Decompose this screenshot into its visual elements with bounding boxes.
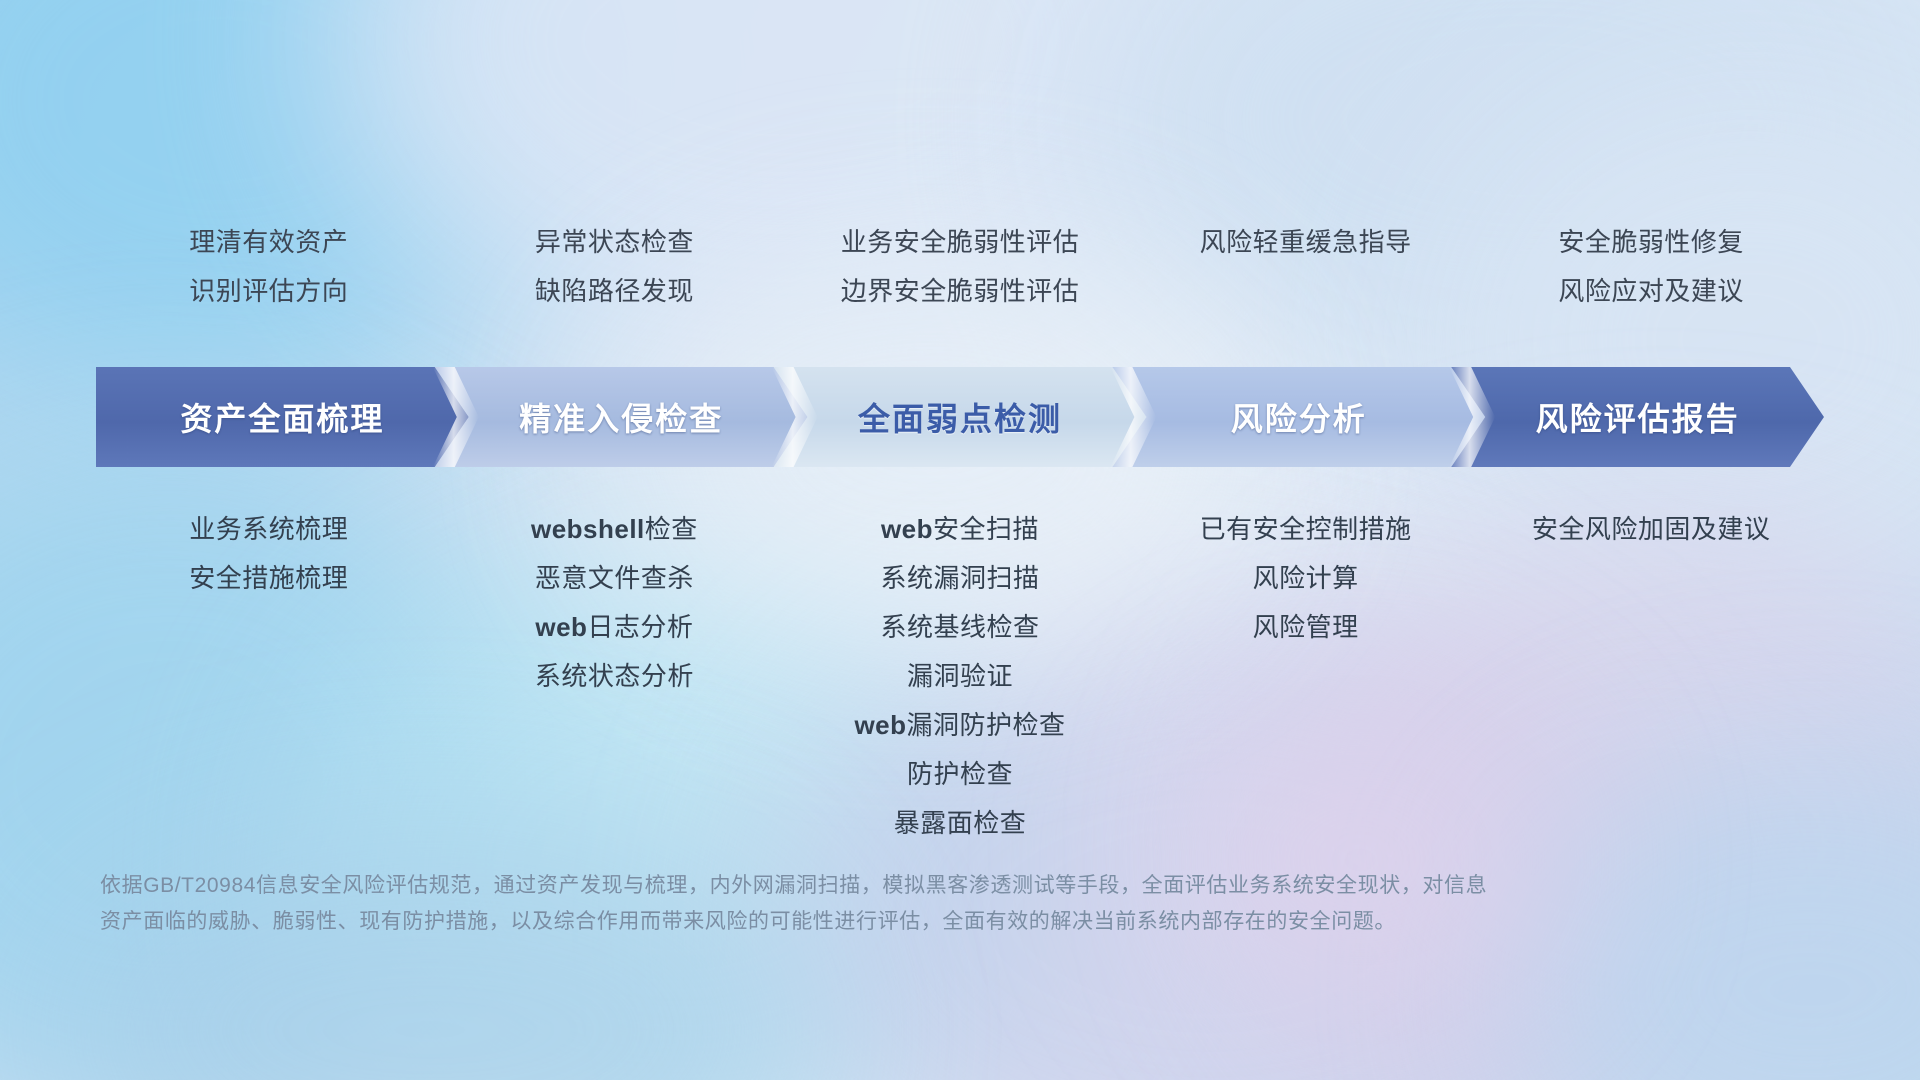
detail-list-col-1: 业务系统梳理安全措施梳理 (96, 505, 442, 603)
chevron-stage-3[interactable]: 全面弱点检测 (774, 367, 1147, 467)
chevron-stage-1[interactable]: 资产全面梳理 (96, 367, 469, 467)
detail-list-col-5: 安全风险加固及建议 (1478, 505, 1824, 554)
top-notes-col-1: 理清有效资产识别评估方向 (96, 218, 442, 316)
list-item: web漏洞防护检查 (787, 701, 1133, 750)
top-note: 理清有效资产 (96, 218, 442, 267)
list-item: 漏洞验证 (787, 652, 1133, 701)
list-item: 暴露面检查 (787, 799, 1133, 848)
chevron-label: 全面弱点检测 (858, 394, 1062, 440)
top-notes-row: 理清有效资产识别评估方向异常状态检查缺陷路径发现业务安全脆弱性评估边界安全脆弱性… (0, 218, 1920, 316)
top-note: 识别评估方向 (96, 267, 442, 316)
detail-list-col-2: webshell检查恶意文件查杀web日志分析系统状态分析 (442, 505, 788, 701)
list-item: 系统状态分析 (442, 652, 788, 701)
top-notes-col-2: 异常状态检查缺陷路径发现 (442, 218, 788, 316)
list-item-cn: 检查 (645, 514, 698, 544)
top-note: 异常状态检查 (442, 218, 788, 267)
list-item: web日志分析 (442, 603, 788, 652)
list-item-en: web (535, 612, 587, 642)
list-item-cn: 漏洞防护检查 (907, 710, 1066, 740)
list-item-cn: 日志分析 (587, 612, 693, 642)
detail-lists-row: 业务系统梳理安全措施梳理webshell检查恶意文件查杀web日志分析系统状态分… (0, 505, 1920, 848)
top-note: 缺陷路径发现 (442, 267, 788, 316)
list-item: webshell检查 (442, 505, 788, 554)
list-item: 系统基线检查 (787, 603, 1133, 652)
top-note: 业务安全脆弱性评估 (787, 218, 1133, 267)
chevron-label: 资产全面梳理 (180, 394, 384, 440)
top-note: 安全脆弱性修复 (1478, 218, 1824, 267)
chevron-label: 风险评估报告 (1536, 394, 1740, 440)
list-item-cn: 安全扫描 (933, 514, 1039, 544)
footer-line-1: 依据GB/T20984信息安全风险评估规范，通过资产发现与梳理，内外网漏洞扫描，… (100, 868, 1800, 904)
top-notes-col-5: 安全脆弱性修复风险应对及建议 (1478, 218, 1824, 316)
top-note: 风险轻重缓急指导 (1133, 218, 1479, 267)
top-notes-col-3: 业务安全脆弱性评估边界安全脆弱性评估 (787, 218, 1133, 316)
infographic-sheet: 理清有效资产识别评估方向异常状态检查缺陷路径发现业务安全脆弱性评估边界安全脆弱性… (0, 0, 1920, 1080)
footer-line-2: 资产面临的威胁、脆弱性、现有防护措施，以及综合作用而带来风险的可能性进行评估，全… (100, 904, 1800, 940)
list-item: 恶意文件查杀 (442, 554, 788, 603)
list-item-en: web (881, 514, 933, 544)
chevron-stage-5[interactable]: 风险评估报告 (1451, 367, 1824, 467)
list-item-en: webshell (531, 514, 645, 544)
list-item: 系统漏洞扫描 (787, 554, 1133, 603)
list-item: 安全风险加固及建议 (1478, 505, 1824, 554)
top-note: 边界安全脆弱性评估 (787, 267, 1133, 316)
list-item: web安全扫描 (787, 505, 1133, 554)
list-item: 已有安全控制措施 (1133, 505, 1479, 554)
detail-list-col-4: 已有安全控制措施风险计算风险管理 (1133, 505, 1479, 652)
list-item: 风险管理 (1133, 603, 1479, 652)
detail-list-col-3: web安全扫描系统漏洞扫描系统基线检查漏洞验证web漏洞防护检查防护检查暴露面检… (787, 505, 1133, 848)
list-item: 风险计算 (1133, 554, 1479, 603)
chevron-stage-4[interactable]: 风险分析 (1112, 367, 1485, 467)
footer-description: 依据GB/T20984信息安全风险评估规范，通过资产发现与梳理，内外网漏洞扫描，… (100, 868, 1800, 940)
chevron-label: 风险分析 (1231, 394, 1367, 440)
list-item: 业务系统梳理 (96, 505, 442, 554)
list-item: 防护检查 (787, 750, 1133, 799)
top-note: 风险应对及建议 (1478, 267, 1824, 316)
top-notes-col-4: 风险轻重缓急指导 (1133, 218, 1479, 316)
process-chevron-band: 资产全面梳理精准入侵检查全面弱点检测风险分析风险评估报告 (96, 367, 1824, 467)
chevron-stage-2[interactable]: 精准入侵检查 (435, 367, 808, 467)
list-item-en: web (854, 710, 906, 740)
list-item: 安全措施梳理 (96, 554, 442, 603)
chevron-label: 精准入侵检查 (519, 394, 723, 440)
